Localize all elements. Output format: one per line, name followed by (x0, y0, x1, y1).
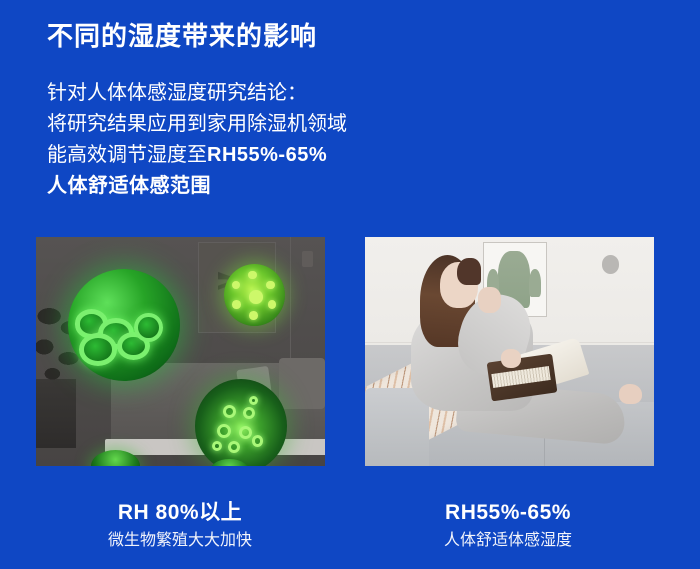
caption-high-humidity: RH 80%以上 微生物繁殖大大加快 (20, 500, 340, 553)
photo-comfort-humidity (365, 237, 654, 466)
dark-room-scene (36, 237, 325, 466)
woman-hand-on-book (501, 349, 521, 367)
body-line-2: 将研究结果应用到家用除湿机领域 (47, 109, 347, 140)
caption-left-sub: 微生物繁殖大大加快 (20, 529, 340, 553)
wall-sensor (302, 251, 314, 267)
body-line-3: 能高效调节湿度至RH55%-65% (47, 140, 347, 171)
page-title: 不同的湿度带来的影响 (47, 20, 317, 52)
caption-comfort-humidity: RH55%-65% 人体舒适体感湿度 (348, 500, 668, 553)
microbe-large-icon (68, 269, 181, 381)
caption-left-main: RH 80%以上 (20, 500, 340, 526)
microbe-corona-icon (195, 379, 287, 466)
wall-seam (290, 237, 291, 370)
woman-hair-front (457, 258, 480, 285)
light-room-scene (365, 237, 654, 466)
body-line-3-regular: 能高效调节湿度至 (47, 144, 207, 166)
body-line-4: 人体舒适体感范围 (47, 171, 347, 202)
woman-foot (619, 384, 642, 405)
photo-high-humidity (36, 237, 325, 466)
microbe-spiky-icon (224, 264, 285, 326)
wall-speaker (602, 255, 619, 273)
body-copy: 针对人体体感湿度研究结论： 将研究结果应用到家用除湿机领域 能高效调节湿度至RH… (47, 78, 347, 202)
body-line-1: 针对人体体感湿度研究结论： (47, 78, 347, 109)
humidity-comparison-poster: 不同的湿度带来的影响 针对人体体感湿度研究结论： 将研究结果应用到家用除湿机领域… (0, 0, 700, 569)
woman-hand-at-head (478, 287, 501, 312)
body-line-3-highlight: RH55%-65% (207, 144, 327, 166)
sofa-armrest (279, 358, 325, 408)
caption-right-main: RH55%-65% (348, 500, 668, 526)
caption-right-sub: 人体舒适体感湿度 (348, 529, 668, 553)
